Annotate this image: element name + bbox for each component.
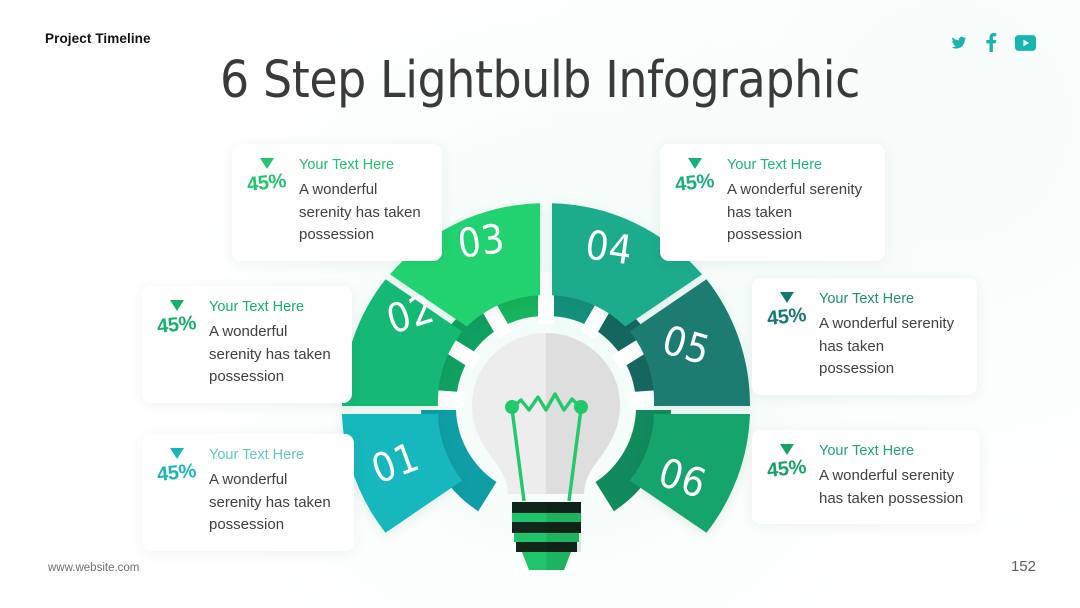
callout-body: Your Text Here A wonderful serenity has … [209,446,338,537]
callout-text: A wonderful serenity has taken possessio… [819,465,964,510]
percent-label: 45% [246,171,287,195]
callout-body: Your Text Here A wonderful serenity has … [819,290,961,381]
slide-canvas: Project Timeline 6 Step Lightbulb Infogr… [0,0,1080,608]
step-number-03: 03 [455,216,508,268]
callout-text: A wonderful serenity has taken possessio… [209,321,336,389]
triangle-down-icon [170,448,184,459]
callout-title: Your Text Here [819,291,961,308]
callout-step-05[interactable]: 45% Your Text Here A wonderful serenity … [752,278,977,395]
callout-meter-06: 45% [764,442,810,479]
lightbulb-icon [472,333,620,570]
percent-label: 45% [156,461,197,485]
callout-meter-03: 45% [244,156,290,193]
twitter-icon[interactable] [950,35,968,51]
page-title: 6 Step Lightbulb Infographic [0,52,1080,110]
triangle-down-icon [780,292,794,303]
callout-body: Your Text Here A wonderful serenity has … [819,442,964,510]
callout-text: A wonderful serenity has taken possessio… [209,469,338,537]
callout-title: Your Text Here [819,443,964,460]
callout-step-01[interactable]: 45% Your Text Here A wonderful serenity … [142,434,354,551]
facebook-icon[interactable] [986,33,997,52]
brand-label: Project Timeline [45,31,151,46]
callout-title: Your Text Here [209,447,338,464]
percent-label: 45% [766,305,807,329]
footer-url[interactable]: www.website.com [48,562,139,574]
callout-title: Your Text Here [299,157,426,174]
youtube-icon[interactable] [1015,35,1036,51]
percent-label: 45% [766,457,807,481]
callout-meter-04: 45% [672,156,718,193]
callout-text: A wonderful serenity has taken possessio… [727,179,869,247]
triangle-down-icon [780,444,794,455]
social-links [950,33,1036,52]
page-number: 152 [1011,558,1036,575]
callout-body: Your Text Here A wonderful serenity has … [299,156,426,247]
callout-body: Your Text Here A wonderful serenity has … [727,156,869,247]
triangle-down-icon [260,158,274,169]
callout-text: A wonderful serenity has taken possessio… [299,179,426,247]
triangle-down-icon [170,300,184,311]
callout-meter-01: 45% [154,446,200,483]
step-number-04: 04 [583,222,636,274]
bulb-base [512,502,581,570]
callout-title: Your Text Here [727,157,869,174]
callout-step-03[interactable]: 45% Your Text Here A wonderful serenity … [232,144,442,261]
callout-meter-02: 45% [154,298,200,335]
callout-text: A wonderful serenity has taken possessio… [819,313,961,381]
callout-step-06[interactable]: 45% Your Text Here A wonderful serenity … [752,430,980,524]
filament-node-right [574,400,588,414]
callout-meter-05: 45% [764,290,810,327]
callout-step-04[interactable]: 45% Your Text Here A wonderful serenity … [660,144,885,261]
filament-node-left [505,400,519,414]
callout-title: Your Text Here [209,299,336,316]
callout-body: Your Text Here A wonderful serenity has … [209,298,336,389]
percent-label: 45% [674,171,715,195]
callout-step-02[interactable]: 45% Your Text Here A wonderful serenity … [142,286,352,403]
percent-label: 45% [156,313,197,337]
triangle-down-icon [688,158,702,169]
